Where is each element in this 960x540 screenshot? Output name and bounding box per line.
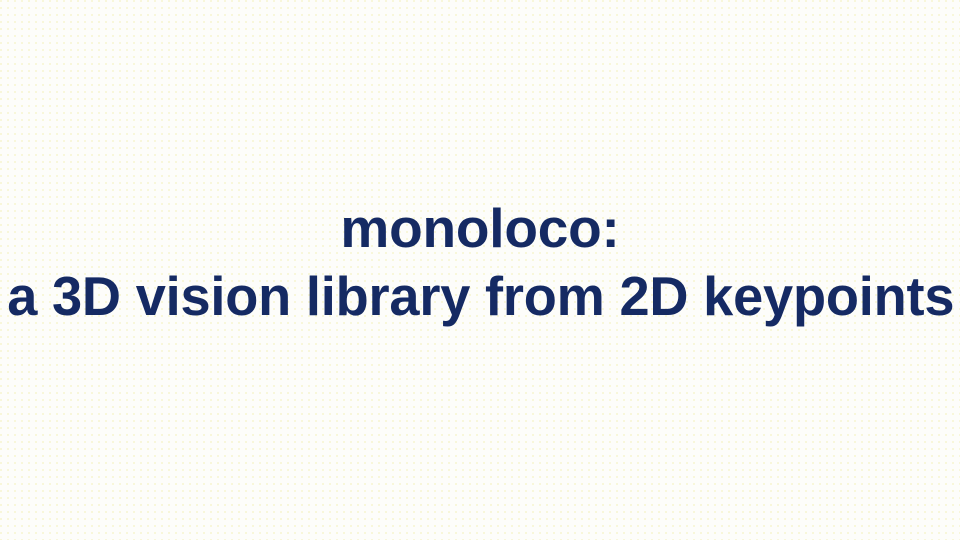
- title-block: monoloco: a 3D vision library from 2D ke…: [0, 194, 960, 330]
- title-slide: monoloco: a 3D vision library from 2D ke…: [0, 0, 960, 540]
- title-line-secondary: a 3D vision library from 2D keypoints: [7, 262, 953, 330]
- title-line-primary: monoloco:: [0, 194, 960, 262]
